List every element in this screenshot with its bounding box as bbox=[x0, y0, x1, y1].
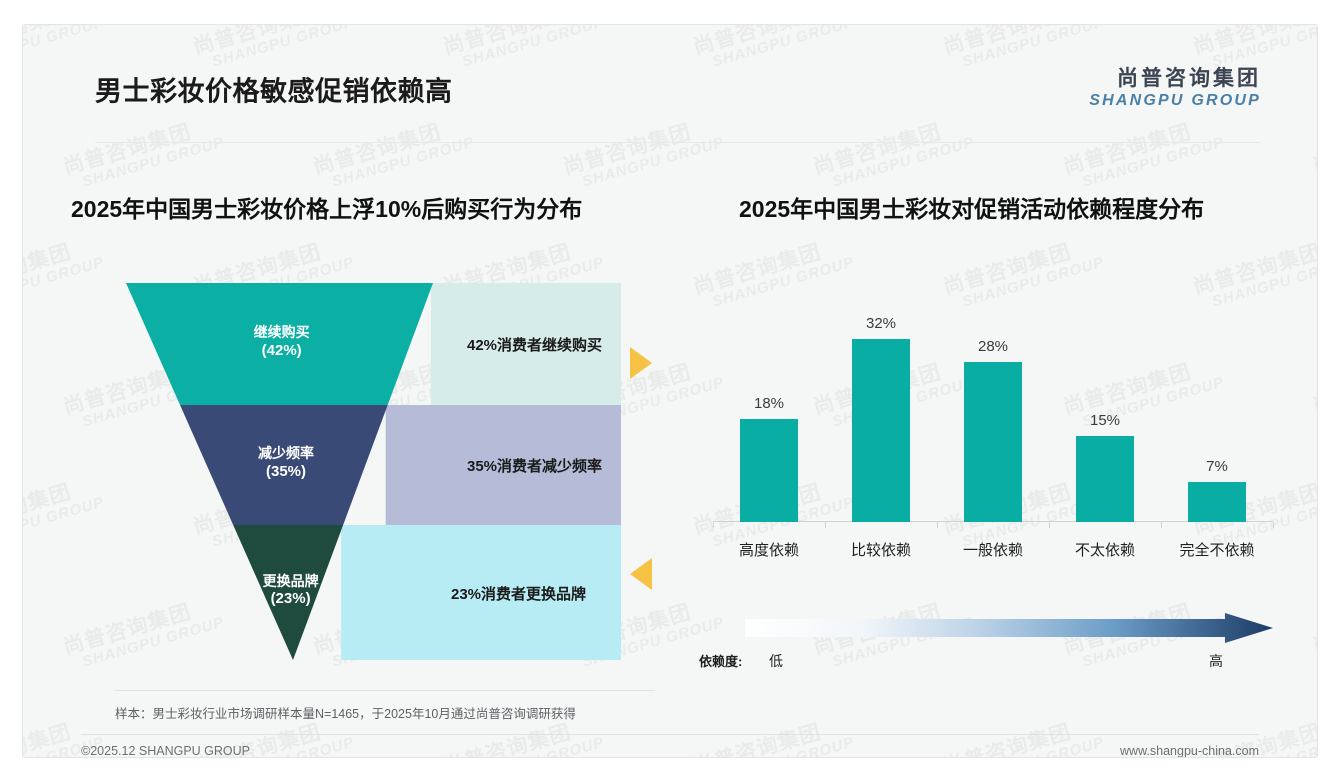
watermark-tile: 尚普咨询集团SHANGPU GROUP bbox=[1311, 594, 1317, 675]
axis-tick bbox=[1049, 522, 1050, 528]
axis-tick bbox=[713, 522, 714, 528]
funnel-side-panel-fill bbox=[431, 283, 435, 405]
funnel-side-panel-fill bbox=[341, 525, 435, 660]
watermark-tile: 尚普咨询集团SHANGPU GROUP bbox=[941, 714, 1106, 757]
watermark-tile: 尚普咨询集团SHANGPU GROUP bbox=[1311, 114, 1317, 195]
bar-rect[interactable] bbox=[852, 339, 910, 522]
funnel-chart: 继续购买(42%)42%消费者继续购买减少频率(35%)35%消费者减少频率更换… bbox=[103, 275, 643, 675]
page-title: 男士彩妆价格敏感促销依赖高 bbox=[95, 70, 453, 109]
footer-copyright: ©2025.12 SHANGPU GROUP bbox=[81, 744, 250, 758]
play-right-icon bbox=[630, 347, 652, 379]
footer-website: www.shangpu-china.com bbox=[1120, 744, 1259, 758]
bar-value-label: 32% bbox=[866, 315, 896, 332]
bar-column: 15% bbox=[1049, 283, 1161, 522]
header-divider bbox=[95, 142, 1261, 143]
legend-label: 依赖度: bbox=[699, 651, 742, 670]
brand-logo-en: SHANGPU GROUP bbox=[1089, 91, 1261, 110]
bar-rect[interactable] bbox=[1076, 436, 1134, 522]
watermark-tile: 尚普咨询集团SHANGPU GROUP bbox=[561, 114, 726, 195]
legend-low-label: 低 bbox=[769, 651, 783, 671]
brand-logo-cn: 尚普咨询集团 bbox=[1089, 67, 1261, 91]
slide-header: 男士彩妆价格敏感促销依赖高 尚普咨询集团 SHANGPU GROUP bbox=[23, 25, 1317, 121]
watermark-tile: 尚普咨询集团SHANGPU GROUP bbox=[61, 114, 226, 195]
bar-rect[interactable] bbox=[1188, 482, 1246, 522]
funnel-segment[interactable] bbox=[233, 525, 343, 660]
watermark-tile: 尚普咨询集团SHANGPU GROUP bbox=[1311, 354, 1317, 435]
axis-tick bbox=[825, 522, 826, 528]
bar-category-label: 一般依赖 bbox=[937, 539, 1049, 560]
bar-column: 7% bbox=[1161, 283, 1273, 522]
bar-category-label: 比较依赖 bbox=[825, 539, 937, 560]
gradient-arrow-icon bbox=[745, 613, 1273, 643]
funnel-segment[interactable] bbox=[180, 405, 388, 525]
funnel-side-text: 42%消费者继续购买 bbox=[467, 334, 602, 355]
axis-tick bbox=[937, 522, 938, 528]
bar-column: 32% bbox=[825, 283, 937, 522]
bar-value-label: 28% bbox=[978, 338, 1008, 355]
watermark-tile: 尚普咨询集团SHANGPU GROUP bbox=[811, 114, 976, 195]
bar-rect[interactable] bbox=[740, 419, 798, 522]
dependency-legend: 依赖度: 低 高 bbox=[713, 613, 1273, 675]
watermark-tile: 尚普咨询集团SHANGPU GROUP bbox=[23, 234, 106, 315]
bar-value-label: 15% bbox=[1090, 412, 1120, 429]
slide-canvas: 尚普咨询集团SHANGPU GROUP尚普咨询集团SHANGPU GROUP尚普… bbox=[22, 24, 1318, 758]
footnote-text: 样本：男士彩妆行业市场调研样本量N=1465，于2025年10月通过尚普咨询调研… bbox=[115, 703, 576, 722]
footnote-divider bbox=[115, 690, 655, 691]
bar-chart: 18%高度依赖32%比较依赖28%一般依赖15%不太依赖7%完全不依赖 bbox=[713, 283, 1273, 568]
bar-column: 18% bbox=[713, 283, 825, 522]
funnel-side-text: 35%消费者减少频率 bbox=[467, 455, 602, 476]
watermark-tile: 尚普咨询集团SHANGPU GROUP bbox=[691, 714, 856, 757]
axis-tick bbox=[1161, 522, 1162, 528]
left-panel-title: 2025年中国男士彩妆价格上浮10%后购买行为分布 bbox=[71, 190, 582, 224]
funnel-side-text: 23%消费者更换品牌 bbox=[451, 583, 586, 604]
watermark-tile: 尚普咨询集团SHANGPU GROUP bbox=[311, 114, 476, 195]
play-left-icon bbox=[630, 558, 652, 590]
right-panel-title: 2025年中国男士彩妆对促销活动依赖程度分布 bbox=[739, 190, 1204, 224]
bar-value-label: 18% bbox=[754, 395, 784, 412]
bar-category-label: 不太依赖 bbox=[1049, 539, 1161, 560]
watermark-tile: 尚普咨询集团SHANGPU GROUP bbox=[23, 474, 106, 555]
bar-value-label: 7% bbox=[1206, 458, 1228, 475]
funnel-segment[interactable] bbox=[126, 283, 433, 405]
funnel-side-panel-fill bbox=[386, 405, 435, 525]
axis-tick bbox=[1273, 522, 1274, 528]
bar-category-label: 高度依赖 bbox=[713, 539, 825, 560]
bar-rect[interactable] bbox=[964, 362, 1022, 522]
footer-divider bbox=[81, 734, 1259, 735]
watermark-tile: 尚普咨询集团SHANGPU GROUP bbox=[1061, 114, 1226, 195]
brand-logo: 尚普咨询集团 SHANGPU GROUP bbox=[1089, 67, 1261, 110]
bar-column: 28% bbox=[937, 283, 1049, 522]
bar-category-label: 完全不依赖 bbox=[1161, 539, 1273, 560]
legend-high-label: 高 bbox=[1209, 651, 1223, 671]
